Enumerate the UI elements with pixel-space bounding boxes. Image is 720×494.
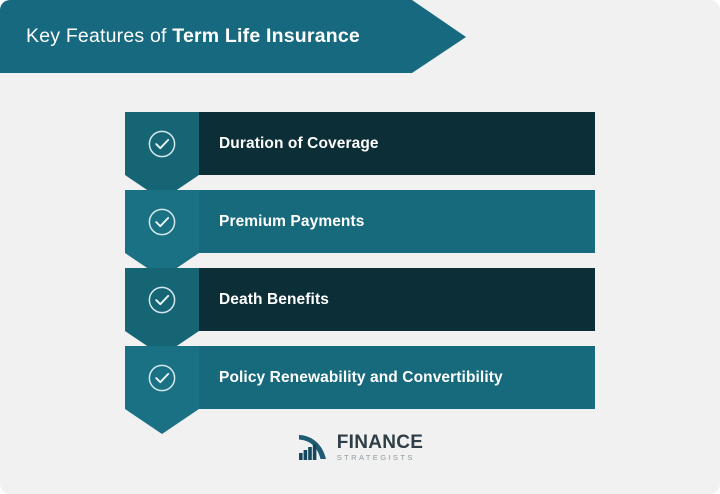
check-circle-icon [147, 129, 177, 159]
page-title: Key Features of Term Life Insurance [0, 25, 360, 48]
check-circle-icon [147, 363, 177, 393]
list-item: Premium Payments [0, 190, 720, 253]
brand-subtitle: STRATEGISTS [337, 454, 424, 462]
feature-label-3: Death Benefits [199, 291, 329, 309]
check-circle-icon [147, 207, 177, 237]
feature-label-1: Duration of Coverage [199, 135, 379, 153]
infographic-canvas: Key Features of Term Life Insurance Dura… [0, 0, 720, 494]
feature-panel-1: Duration of Coverage [199, 112, 595, 175]
feature-tab-3 [125, 268, 199, 356]
bar-chart-swoosh-icon [297, 431, 331, 463]
brand-name: FINANCE [337, 433, 424, 452]
feature-tab-4 [125, 346, 199, 434]
page-title-emphasis: Term Life Insurance [172, 25, 360, 47]
brand-logo: FINANCE STRATEGISTS [0, 431, 720, 463]
feature-list: Duration of Coverage Premium Payments [0, 112, 720, 424]
page-title-prefix: Key Features of [26, 25, 172, 47]
feature-tab-1 [125, 112, 199, 200]
list-item: Duration of Coverage [0, 112, 720, 175]
header-banner: Key Features of Term Life Insurance [0, 0, 466, 73]
list-item: Policy Renewability and Convertibility [0, 346, 720, 409]
list-item: Death Benefits [0, 268, 720, 331]
feature-label-4: Policy Renewability and Convertibility [199, 369, 503, 387]
feature-tab-2 [125, 190, 199, 278]
check-circle-icon [147, 285, 177, 315]
feature-panel-2: Premium Payments [199, 190, 595, 253]
brand-logo-text: FINANCE STRATEGISTS [337, 433, 424, 462]
feature-label-2: Premium Payments [199, 213, 364, 231]
feature-panel-4: Policy Renewability and Convertibility [199, 346, 595, 409]
feature-panel-3: Death Benefits [199, 268, 595, 331]
